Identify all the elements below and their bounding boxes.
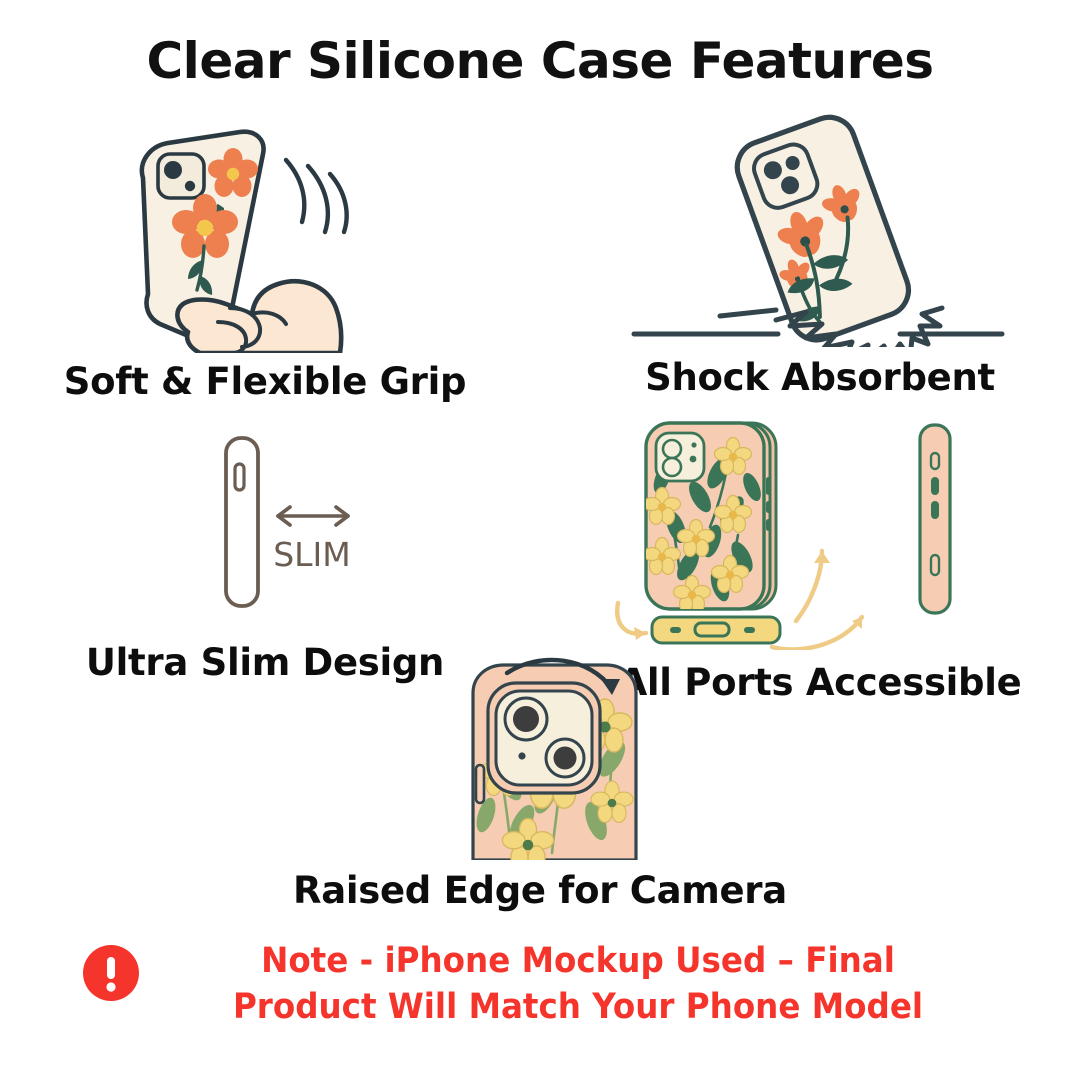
page-title: Clear Silicone Case Features bbox=[0, 34, 1080, 89]
hand-bending-phone-case-icon bbox=[40, 118, 490, 353]
infographic-root: Clear Silicone Case Features bbox=[0, 0, 1080, 1080]
feature-shock-absorbent: Shock Absorbent bbox=[600, 112, 1040, 400]
phone-impact-burst-icon bbox=[600, 112, 1040, 347]
feature-soft-flexible-grip: Soft & Flexible Grip bbox=[40, 118, 490, 404]
feature-raised-edge-camera: Raised Edge for Camera bbox=[260, 655, 820, 913]
exclamation-circle-icon bbox=[82, 944, 140, 1002]
feature-label-camera: Raised Edge for Camera bbox=[260, 870, 820, 913]
feature-ultra-slim-design: SLIM Ultra Slim Design bbox=[40, 420, 490, 685]
phone-ports-cutouts-icon bbox=[600, 415, 1040, 650]
feature-label-shock: Shock Absorbent bbox=[600, 357, 1040, 400]
note-bar: Note - iPhone Mockup Used – Final Produc… bbox=[0, 938, 1080, 1030]
note-text: Note - iPhone Mockup Used – Final Produc… bbox=[187, 938, 968, 1030]
phone-side-profile-slim-icon: SLIM bbox=[40, 420, 490, 620]
slim-callout-text: SLIM bbox=[273, 535, 351, 574]
feature-label-grip: Soft & Flexible Grip bbox=[40, 361, 490, 404]
raised-camera-bezel-icon bbox=[260, 655, 820, 860]
